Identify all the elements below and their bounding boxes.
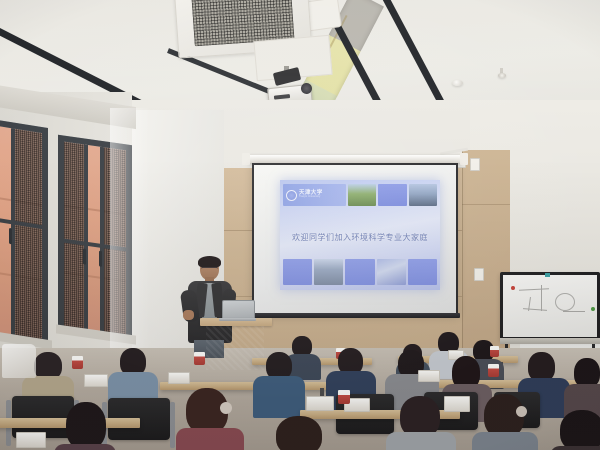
slide-tile-campus-gate (314, 259, 343, 285)
laptop-keyboard[interactable] (219, 318, 256, 321)
sprinkler-head (498, 73, 506, 78)
whiteboard-pen-tray (500, 338, 600, 344)
whiteboard-marking (523, 308, 547, 311)
slide-tile-blank (408, 259, 437, 285)
slide-tile-blank (283, 259, 312, 285)
window-mullion (11, 128, 15, 337)
torso (54, 444, 116, 450)
head (276, 416, 322, 450)
wall-outlet[interactable] (474, 268, 484, 281)
slide-tile-campus-greenery (348, 184, 376, 206)
red-cup (194, 352, 205, 365)
window-handle[interactable] (9, 228, 12, 244)
whiteboard-magnet-teal[interactable] (545, 273, 550, 277)
wall-seam (462, 150, 463, 350)
whiteboard-marking (563, 311, 585, 312)
window-mullion (100, 147, 104, 334)
torso (253, 376, 305, 418)
whiteboard-magnet-red[interactable] (511, 286, 515, 290)
lunchbox (418, 370, 440, 382)
red-cup (488, 364, 499, 377)
torso (550, 446, 600, 450)
torso (472, 432, 538, 450)
window-far (0, 116, 48, 348)
head (66, 402, 106, 450)
slide-title-text: 欢迎同学们加入环境科学专业大家庭 (280, 232, 440, 243)
whiteboard-marking (541, 285, 542, 311)
window-handle[interactable] (99, 251, 102, 267)
wall-light-glare (110, 108, 150, 358)
whiteboard (500, 272, 600, 340)
wall-switch[interactable] (470, 158, 480, 171)
tianjin-university-seal-icon (286, 190, 297, 201)
red-cup (490, 346, 499, 357)
slide-bottom-image-strip (280, 259, 440, 285)
lunchbox (16, 432, 46, 448)
whiteboard-magnet-green[interactable] (591, 307, 595, 311)
slide-tile-blank (345, 259, 374, 285)
torso (386, 432, 456, 450)
window-insect-screen (64, 142, 85, 331)
window-handle[interactable] (83, 248, 86, 264)
classroom-photo: 天津大学 Tianjin University 欢迎同学们加入环境科学专业大家庭 (0, 0, 600, 450)
lunchbox (306, 396, 334, 411)
projection-screen-weight-bar (250, 313, 460, 318)
smoke-detector (452, 80, 463, 86)
red-cup (72, 356, 83, 369)
lunchbox (84, 374, 108, 387)
slide-tile-campus-night (377, 259, 406, 285)
slide-tile-blank (378, 184, 406, 206)
whiteboard-marking (519, 288, 549, 291)
slide-top-image-strip: 天津大学 Tianjin University (280, 184, 440, 206)
torso (176, 428, 244, 450)
hair-tie (516, 406, 527, 417)
projection-screen-housing (248, 155, 462, 163)
hair-tie (220, 402, 232, 414)
window-insect-screen (14, 129, 42, 341)
slide-logo-banner: 天津大学 Tianjin University (283, 184, 346, 206)
head (560, 410, 600, 450)
whiteboard-surface (503, 275, 597, 337)
projected-slide: 天津大学 Tianjin University 欢迎同学们加入环境科学专业大家庭 (280, 180, 440, 290)
glasses-icon (201, 267, 218, 272)
window-mullion (84, 144, 88, 331)
lunchbox (168, 372, 190, 384)
red-cup (338, 390, 350, 404)
slide-tile-campus-building (409, 184, 437, 206)
projection-screen: 天津大学 Tianjin University 欢迎同学们加入环境科学专业大家庭 (252, 163, 458, 315)
lunchbox (444, 396, 470, 412)
slide-logo-en: Tianjin University (299, 196, 323, 199)
chair-frame (170, 402, 175, 448)
whiteboard-marking (555, 293, 575, 311)
plastic-bag (2, 344, 36, 378)
presenter-fist (183, 310, 194, 320)
